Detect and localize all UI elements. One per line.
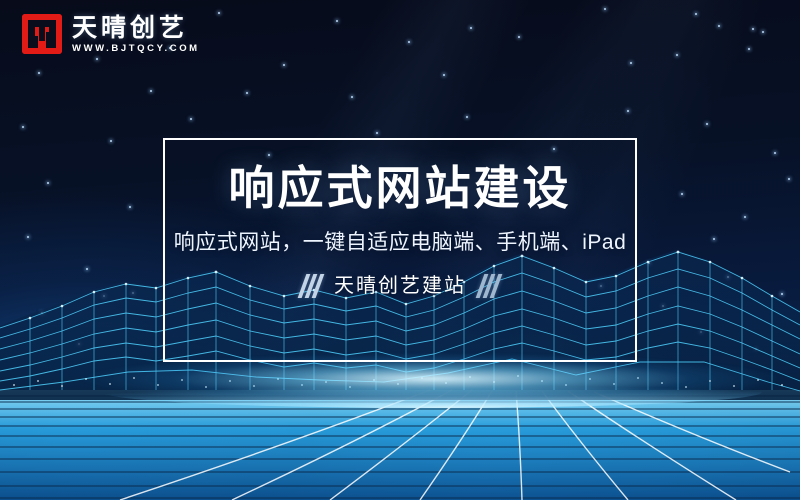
brand-logo-text: 天晴创艺 WWW.BJTQCY.COM [72,15,200,54]
tqcy-monogram-icon [22,14,62,54]
triple-slash-icon-right [480,274,498,298]
badge-label: 天晴创艺建站 [334,272,466,300]
brand-name: 天晴创艺 [72,15,200,41]
brand-website: WWW.BJTQCY.COM [72,44,200,54]
status-badge: 天晴创艺建站 [302,272,498,300]
page-title: 响应式网站建设 [229,160,572,216]
hero-copy: 响应式网站建设 响应式网站，一键自适应电脑端、手机端、iPad 天晴创艺建站 [0,160,800,300]
triple-slash-icon-left [302,274,320,298]
page-subtitle: 响应式网站，一键自适应电脑端、手机端、iPad [174,228,627,258]
hero-banner: 天晴创艺 WWW.BJTQCY.COM [0,0,800,500]
brand-logo[interactable]: 天晴创艺 WWW.BJTQCY.COM [22,14,200,54]
